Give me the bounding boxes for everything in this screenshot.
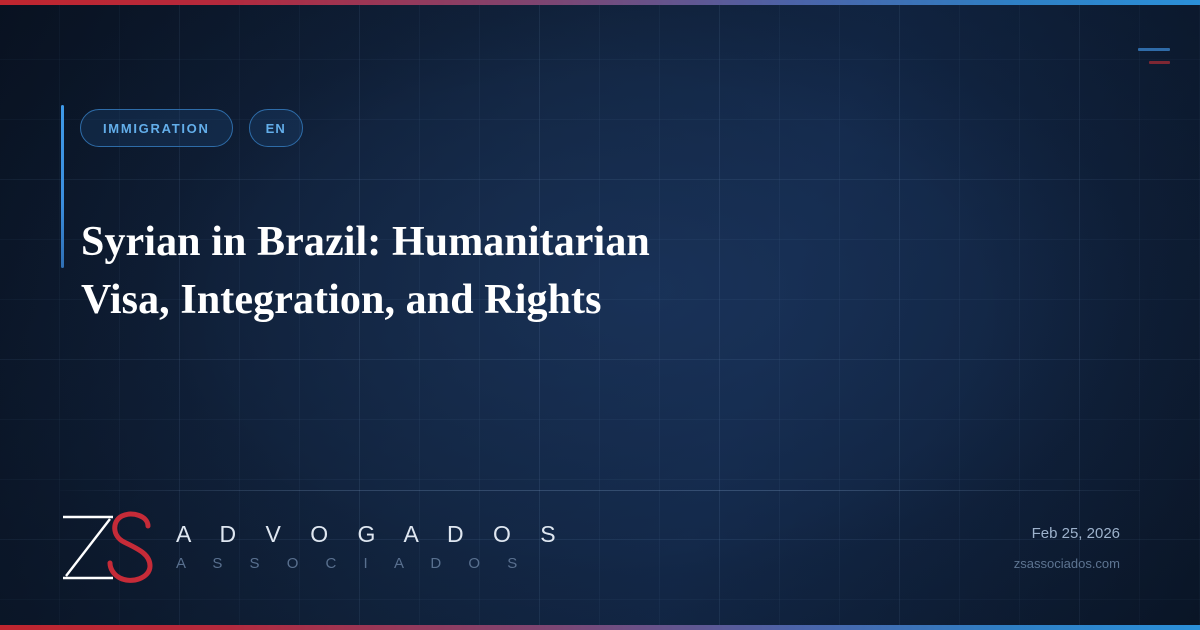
zs-monogram-logo [60,510,168,586]
website-url[interactable]: zsassociados.com [1014,556,1120,572]
logo-letter-s-icon [110,514,150,580]
social-share-card: IMMIGRATION EN Syrian in Brazil: Humanit… [0,0,1200,630]
brand-text: A D V O G A D O S A S S O C I A D O S [176,520,567,575]
category-badge[interactable]: IMMIGRATION [80,109,233,147]
corner-red-bar-icon [1149,61,1170,64]
language-badge[interactable]: EN [249,109,303,147]
publish-date: Feb 25, 2026 [1014,525,1120,543]
bottom-gradient-bar [0,625,1200,630]
top-gradient-bar [0,0,1200,5]
logo-letter-z-icon [63,517,113,578]
left-accent-rule [61,105,64,268]
badge-group: IMMIGRATION EN [80,109,303,147]
corner-marks [1138,48,1170,64]
page-title: Syrian in Brazil: Humanitarian Visa, Int… [81,214,741,330]
brand-primary-text: A D V O G A D O S [176,520,567,549]
brand-secondary-text: A S S O C I A D O S [176,553,567,576]
footer-divider [60,490,1140,491]
brand-lockup: A D V O G A D O S A S S O C I A D O S [60,510,567,586]
corner-blue-bar-icon [1138,48,1170,51]
footer: A D V O G A D O S A S S O C I A D O S Fe… [60,498,1140,598]
footer-meta: Feb 25, 2026 zsassociados.com [1014,525,1140,572]
